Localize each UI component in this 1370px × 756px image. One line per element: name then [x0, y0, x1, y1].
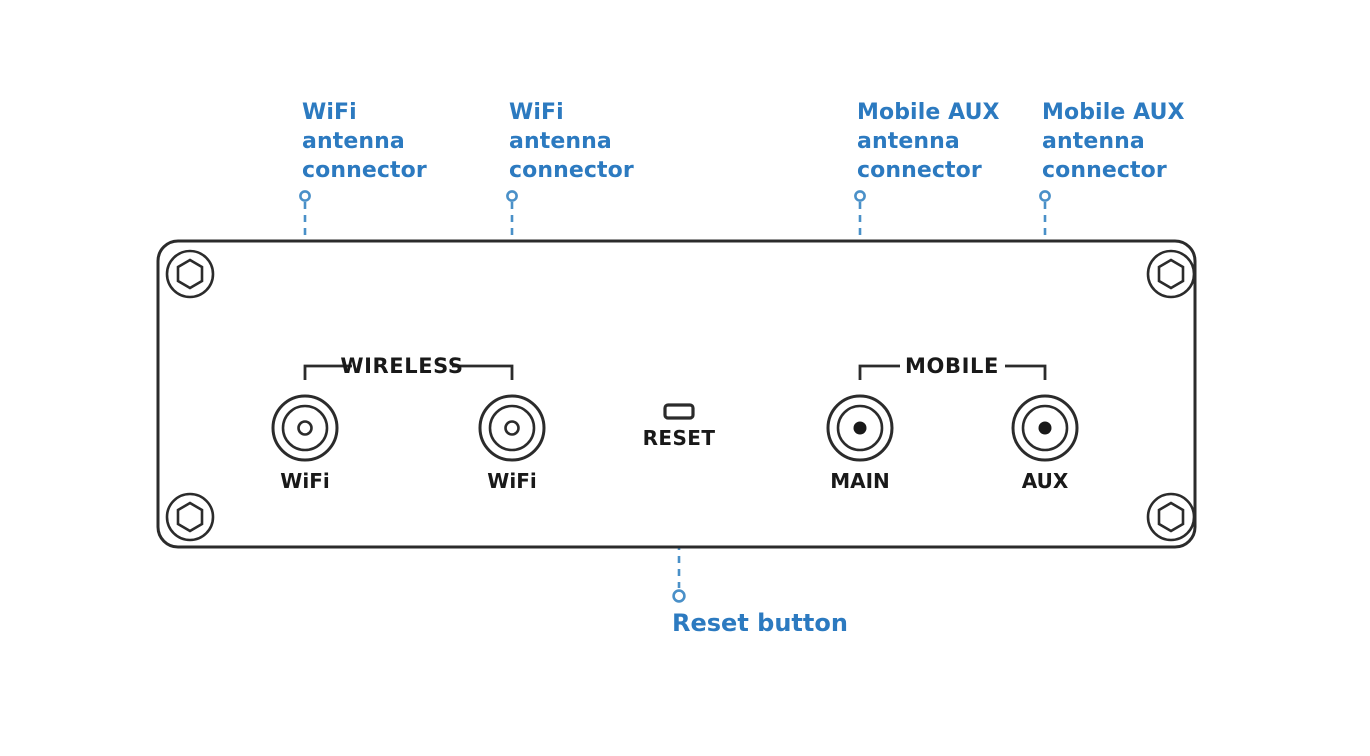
diagram-canvas: WiFi antenna connector WiFi antenna conn… — [0, 0, 1370, 756]
group-label-mobile: MOBILE — [905, 355, 999, 377]
port-label-wifi-1: WiFi — [280, 470, 329, 492]
device-rear-panel — [158, 241, 1195, 547]
connector-mobile-aux — [1013, 396, 1077, 460]
callout-mobile-aux-antenna-connector-1: Mobile AUX antenna connector — [857, 98, 1000, 185]
callout-reset-button: Reset button — [672, 608, 848, 638]
connector-mobile-main — [828, 396, 892, 460]
group-label-wireless: WIRELESS — [340, 355, 463, 377]
port-label-mobile-aux: AUX — [1022, 470, 1069, 492]
callout-wifi-antenna-connector-1: WiFi antenna connector — [302, 98, 427, 185]
port-label-wifi-2: WiFi — [487, 470, 536, 492]
endpoint-dot-mobile-aux-2 — [1040, 191, 1049, 200]
callout-wifi-antenna-connector-2: WiFi antenna connector — [509, 98, 634, 185]
endpoint-dot-reset — [674, 591, 685, 602]
callout-mobile-aux-antenna-connector-2: Mobile AUX antenna connector — [1042, 98, 1185, 185]
reset-button-slot[interactable] — [665, 405, 693, 418]
port-label-mobile-main: MAIN — [830, 470, 890, 492]
endpoint-dot-wifi-1 — [300, 191, 309, 200]
reset-label: RESET — [643, 427, 716, 449]
endpoint-dot-wifi-2 — [507, 191, 516, 200]
endpoint-dot-mobile-aux-1 — [855, 191, 864, 200]
